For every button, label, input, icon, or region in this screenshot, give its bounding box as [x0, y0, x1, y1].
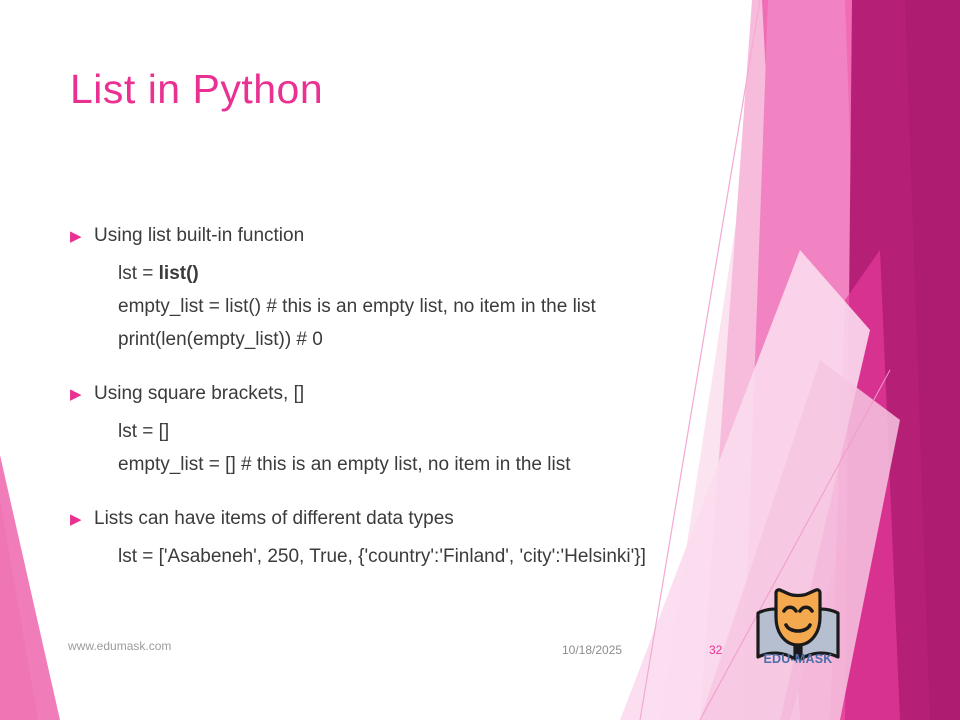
logo-label: EDU-MASK — [752, 652, 844, 666]
code-text-bold: list() — [159, 263, 199, 284]
page-title: List in Python — [70, 66, 323, 113]
code-line: empty_list = [] # this is an empty list,… — [118, 448, 800, 481]
deco-wedge-left-inner — [0, 500, 38, 720]
deco-band-magenta — [845, 0, 960, 720]
content-block: ▶ Using square brackets, [] lst = [] emp… — [70, 380, 800, 481]
content-block: ▶ Using list built-in function lst = lis… — [70, 222, 800, 356]
code-line: lst = ['Asabeneh', 250, True, {'country'… — [118, 540, 800, 573]
code-line: lst = [] — [118, 415, 800, 448]
footer-page-number: 32 — [709, 643, 722, 657]
deco-band-magenta-2 — [905, 0, 960, 720]
triangle-bullet-icon: ▶ — [70, 380, 94, 409]
bullet-item: ▶ Using square brackets, [] — [70, 380, 800, 409]
triangle-bullet-icon: ▶ — [70, 222, 94, 251]
footer-date: 10/18/2025 — [562, 643, 622, 657]
deco-wedge-left — [0, 455, 60, 720]
footer-website[interactable]: www.edumask.com — [68, 639, 171, 653]
bullet-label: Using list built-in function — [94, 222, 304, 250]
bullet-label: Lists can have items of different data t… — [94, 505, 454, 533]
content-block: ▶ Lists can have items of different data… — [70, 505, 800, 573]
code-line: print(len(empty_list)) # 0 — [118, 323, 800, 356]
theatre-mask-face — [776, 590, 820, 645]
code-line: empty_list = list() # this is an empty l… — [118, 290, 800, 323]
bullet-item: ▶ Lists can have items of different data… — [70, 505, 800, 534]
bullet-item: ▶ Using list built-in function — [70, 222, 800, 251]
triangle-bullet-icon: ▶ — [70, 505, 94, 534]
slide-body: ▶ Using list built-in function lst = lis… — [70, 222, 800, 573]
code-text: lst = — [118, 263, 159, 284]
bullet-label: Using square brackets, [] — [94, 380, 304, 408]
code-line: lst = list() — [118, 257, 800, 290]
slide: List in Python ▶ Using list built-in fun… — [0, 0, 960, 720]
